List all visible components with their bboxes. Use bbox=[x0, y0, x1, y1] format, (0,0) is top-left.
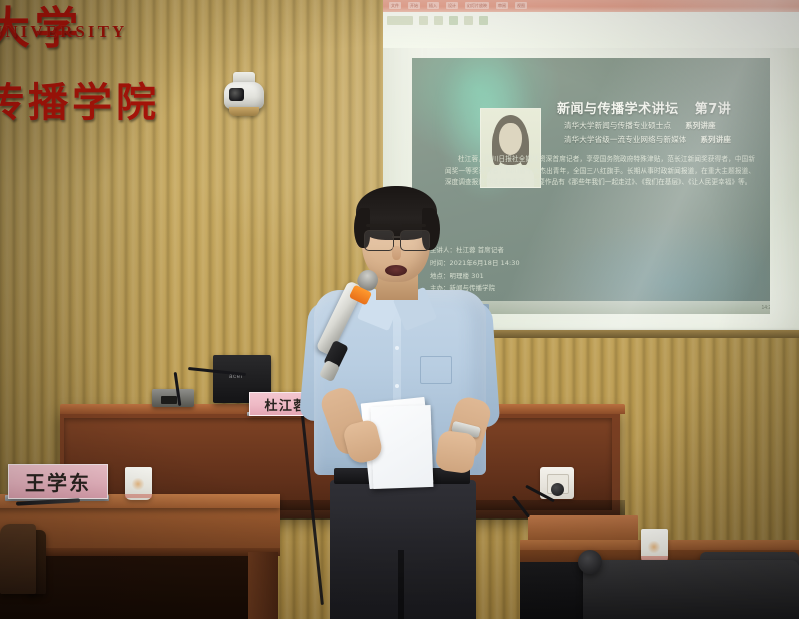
glasses-bridge bbox=[392, 236, 400, 238]
camera-base bbox=[229, 107, 259, 116]
ribbon-tab[interactable]: 视图 bbox=[515, 2, 527, 9]
camera-lens-icon bbox=[229, 88, 244, 101]
slide-lecture-number: 第7讲 bbox=[695, 102, 732, 117]
arrange-icon[interactable] bbox=[479, 16, 488, 25]
ribbon-tab[interactable]: 审阅 bbox=[496, 2, 508, 9]
wall-sign-university-en: UNIVERSITY bbox=[0, 22, 127, 42]
align-icon[interactable] bbox=[464, 16, 473, 25]
slide-subtitle-1: 清华大学新闻与传播专业硕士点系列讲座 bbox=[564, 120, 769, 131]
speaker-hand-right bbox=[434, 430, 477, 475]
glasses-lens-left bbox=[364, 230, 394, 251]
slide-subtitle-2: 清华大学省级一流专业网络与新媒体系列讲座 bbox=[564, 134, 769, 145]
shape-icon[interactable] bbox=[449, 16, 458, 25]
bold-icon[interactable] bbox=[434, 16, 443, 25]
power-plug-icon bbox=[551, 483, 564, 496]
slide-subtitle-2-text: 清华大学省级一流专业网络与新媒体 bbox=[564, 135, 686, 144]
ribbon-tab[interactable]: 插入 bbox=[427, 2, 439, 9]
slide-title-main: 新闻与传播学术讲坛 bbox=[557, 102, 679, 117]
ribbon-tab[interactable]: 开始 bbox=[408, 2, 420, 9]
slide-title: 新闻与传播学术讲坛第7讲 bbox=[557, 98, 767, 117]
wall-sign-school-cn: 传播学院 bbox=[0, 70, 160, 128]
chair[interactable] bbox=[583, 560, 799, 619]
shirt-button bbox=[395, 346, 399, 350]
speaker-mouth bbox=[385, 265, 407, 276]
ribbon-tab[interactable]: 幻灯片放映 bbox=[465, 2, 489, 9]
slide-subtitle-1-text: 清华大学新闻与传播专业硕士点 bbox=[564, 121, 671, 130]
paper-cup-decoration bbox=[647, 541, 661, 553]
powerpoint-ribbon-tabs: 文件 开始 插入 设计 幻灯片放映 审阅 视图 bbox=[389, 1, 527, 10]
paper-cup-decoration bbox=[131, 478, 145, 490]
paper-cup-rim bbox=[125, 494, 152, 498]
glasses-lens-right bbox=[400, 230, 430, 251]
speaker-eyebrow-left bbox=[366, 224, 390, 227]
side-table bbox=[528, 515, 638, 543]
powerpoint-toolbar-icons bbox=[387, 16, 488, 25]
font-icon[interactable] bbox=[419, 16, 428, 25]
shirt-pocket bbox=[420, 356, 452, 384]
slide-subtitle-1-tag: 系列讲座 bbox=[685, 121, 716, 130]
shirt-button bbox=[395, 384, 399, 388]
ribbon-tab[interactable]: 设计 bbox=[446, 2, 458, 9]
connection-port bbox=[161, 396, 177, 404]
taskbar-clock: 14:28 bbox=[761, 305, 770, 311]
chair[interactable] bbox=[0, 524, 36, 594]
nameplate-front-row: 王学东 bbox=[8, 464, 108, 499]
trouser-crease bbox=[398, 550, 404, 619]
slide-subtitle-2-tag: 系列讲座 bbox=[700, 135, 731, 144]
speaker-nose bbox=[392, 246, 401, 260]
portrait-face bbox=[499, 123, 522, 155]
speaker-eyebrow-right bbox=[402, 224, 426, 227]
speaker-person bbox=[300, 170, 520, 619]
paste-icon[interactable] bbox=[387, 16, 413, 25]
ribbon-tab[interactable]: 文件 bbox=[389, 2, 401, 9]
lecture-hall-photo: 大学 UNIVERSITY 传播学院 文件 开始 插入 设计 幻灯片放映 审阅 … bbox=[0, 0, 799, 619]
chair-armrest bbox=[578, 550, 602, 574]
front-table-leg bbox=[248, 552, 278, 619]
